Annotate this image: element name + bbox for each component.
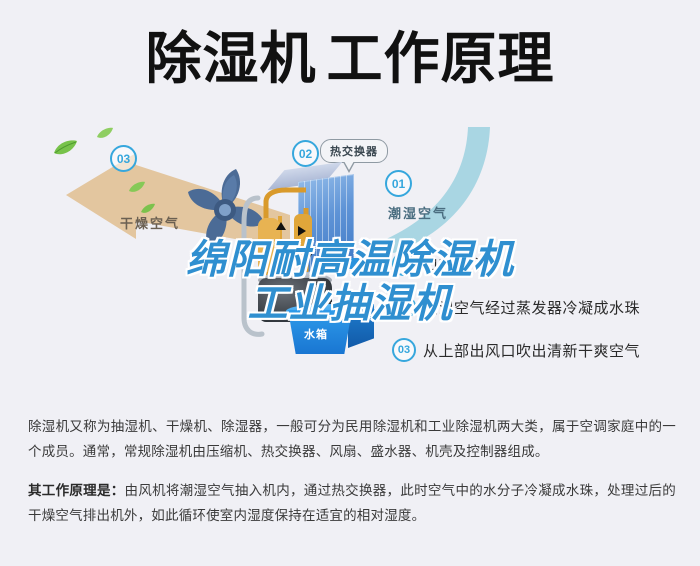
marker-01: 01 [385,170,412,197]
step-number: 01 [392,252,416,276]
step-number: 02 [392,295,416,319]
step-number: 03 [392,338,416,362]
title-part-1: 除湿机 [146,27,317,90]
paragraph-2-rest: 由风机将潮湿空气抽入机内，通过热交换器，此时空气中的水分子冷凝成水珠，处理过后的… [28,483,676,523]
paragraph-2-lead: 其工作原理是： [28,483,125,498]
marker-03: 03 [110,145,137,172]
air-inflow-arrow-icon [330,253,380,273]
paragraph-1: 除湿机又称为抽湿机、干燥机、除湿器，一般可分为民用除湿机和工业除湿机两大类，属于… [28,414,676,464]
paragraph-2: 其工作原理是：由风机将潮湿空气抽入机内，通过热交换器，此时空气中的水分子冷凝成水… [28,478,676,528]
page-title: 除湿机工作原理 [0,28,700,90]
leaf-icon [96,127,114,140]
moist-air-label: 潮湿空气 [388,203,448,222]
water-tank-label: 水箱 [304,326,328,342]
dry-air-label: 干燥空气 [120,213,180,232]
step-text: 潮湿空气经过蒸发器冷凝成水珠 [423,297,640,318]
leaf-icon [140,203,156,215]
step-text: 从上部出风口吹出清新干爽空气 [423,340,640,361]
tank-side [348,304,374,348]
list-item: 01 口吸进 湿 [392,252,692,276]
title-part-2: 工作原理 [327,27,555,90]
dehumidifier-infographic: 除湿机工作原理 干燥空气 潮湿空气 [0,0,700,566]
leaf-icon [52,139,78,157]
step-text: 口吸进 湿 [423,254,490,275]
list-item: 03 从上部出风口吹出清新干爽空气 [392,338,692,362]
leaf-icon [128,181,146,194]
water-tank: 水箱 [288,300,374,356]
body-text: 除湿机又称为抽湿机、干燥机、除湿器，一般可分为民用除湿机和工业除湿机两大类，属于… [28,414,676,542]
list-item: 02 潮湿空气经过蒸发器冷凝成水珠 [392,295,692,319]
step-list: 01 口吸进 湿 02 潮湿空气经过蒸发器冷凝成水珠 03 从上部出风口吹出清新… [392,252,692,381]
